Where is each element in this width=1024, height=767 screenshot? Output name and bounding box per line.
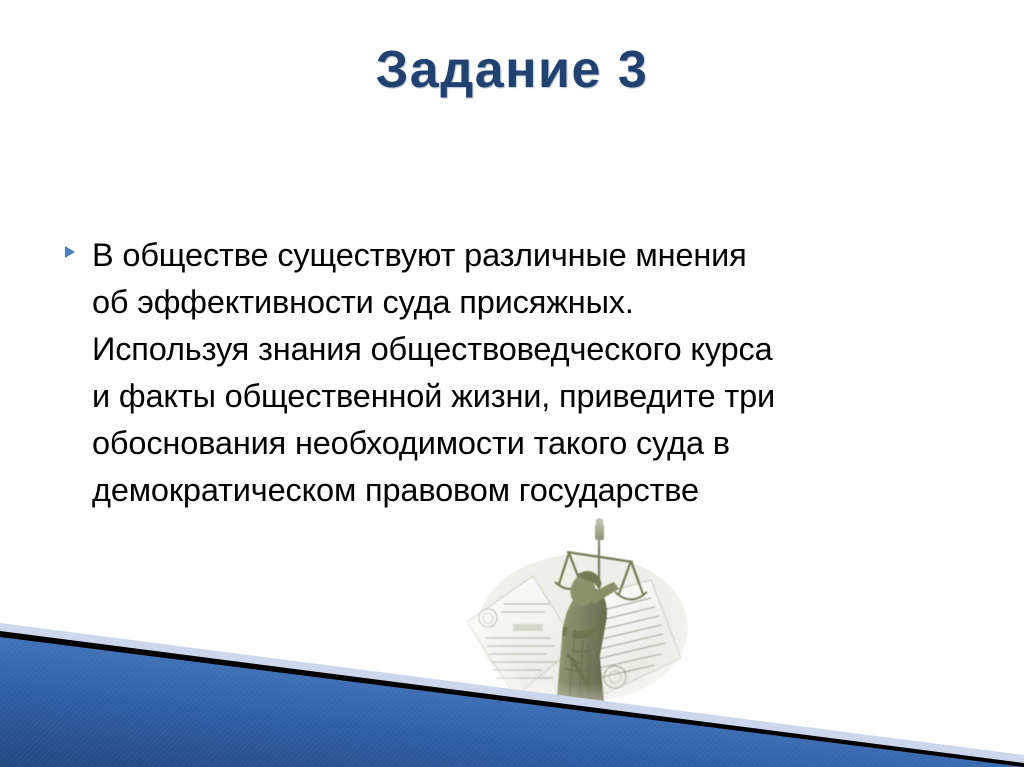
slide-canvas: Задание 3 В обществе существуют различны… bbox=[0, 0, 1024, 767]
lady-justice-illustration bbox=[455, 518, 710, 714]
body-text-block: В обществе существуют различные мнения о… bbox=[62, 232, 962, 514]
bullet-item-label: В обществе существуют различные мнения о… bbox=[92, 232, 962, 514]
page-title: Задание 3 bbox=[0, 42, 1024, 99]
triangle-right-icon bbox=[62, 232, 92, 260]
bullet-list-item: В обществе существуют различные мнения о… bbox=[62, 232, 962, 514]
